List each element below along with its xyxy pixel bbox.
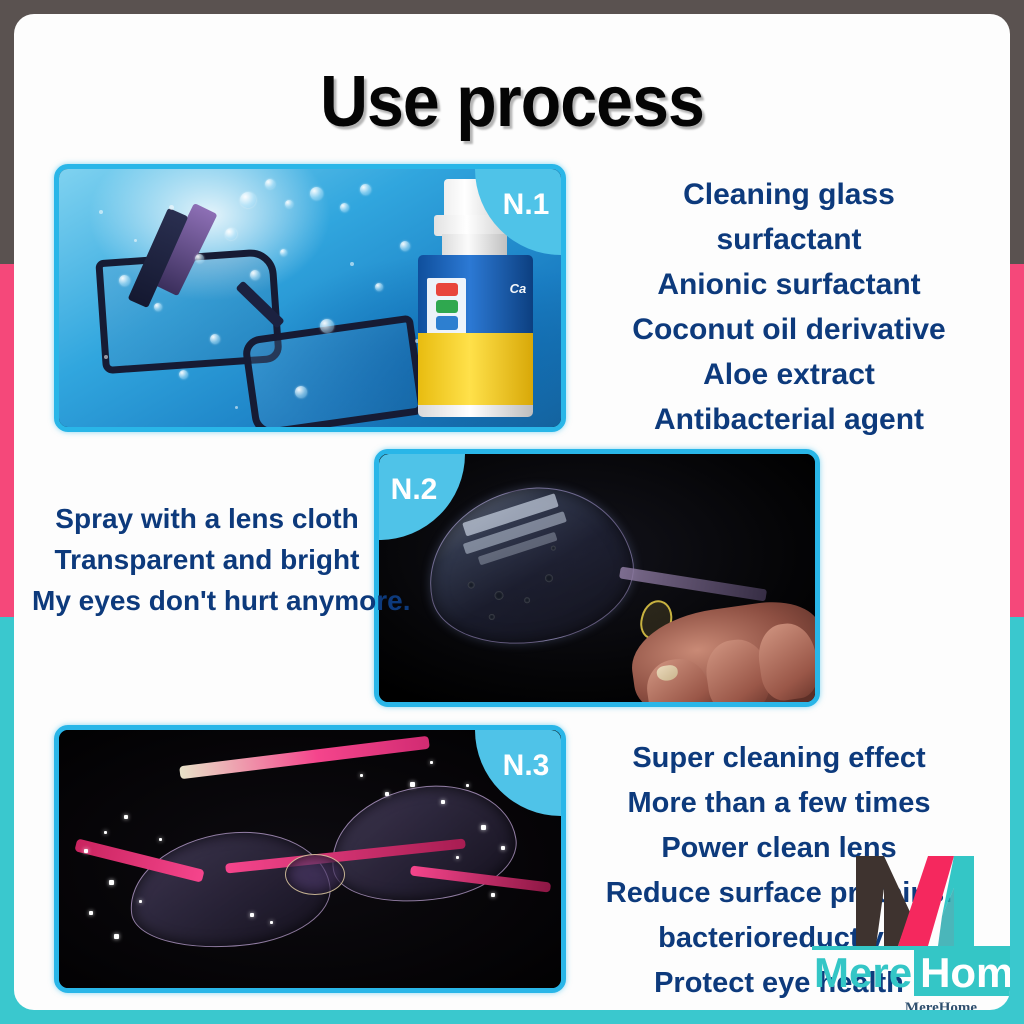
ingredients-text-block: Cleaning glass surfactant Anionic surfac… [584,172,994,442]
wordmark-mere: Mere [812,950,914,996]
benefits-line: Super cleaning effect [574,736,984,781]
wordmark-home: Home [914,950,1010,996]
step-photo-1: Ca N.1 [54,164,566,432]
page-title: Use process [54,66,970,138]
wordmark-underline [812,946,1010,950]
merehome-logo: Mere Home MereHome [846,854,1010,1010]
ingredients-line: Aloe extract [584,352,994,397]
ingredients-line: surfactant [584,217,994,262]
temple-arm [619,566,767,601]
usage-line: Transparent and bright [32,539,382,580]
step-photo-3: N.3 [54,725,566,993]
usage-line: My eyes don't hurt anymore. [32,580,382,621]
bridge-detail [285,854,345,895]
benefits-line: More than a few times [574,781,984,826]
content-card: Use process [14,14,1010,1010]
bottle-brand-text: Ca [510,281,527,296]
ingredients-line: Coconut oil derivative [584,307,994,352]
usage-line: Spray with a lens cloth [32,498,382,539]
step-photo-2: N.2 [374,449,820,707]
ingredients-line: Anionic surfactant [584,262,994,307]
logo-subtitle: MereHome [846,1000,1010,1010]
top-temple-arm [180,735,431,778]
ingredients-line: Cleaning glass [584,172,994,217]
merehome-wordmark: Mere Home [812,950,1010,996]
ingredients-line: Antibacterial agent [584,397,994,442]
merehome-m-icon [854,854,994,946]
eyeglasses-illustration [99,195,420,422]
usage-text-block: Spray with a lens cloth Transparent and … [32,498,382,621]
